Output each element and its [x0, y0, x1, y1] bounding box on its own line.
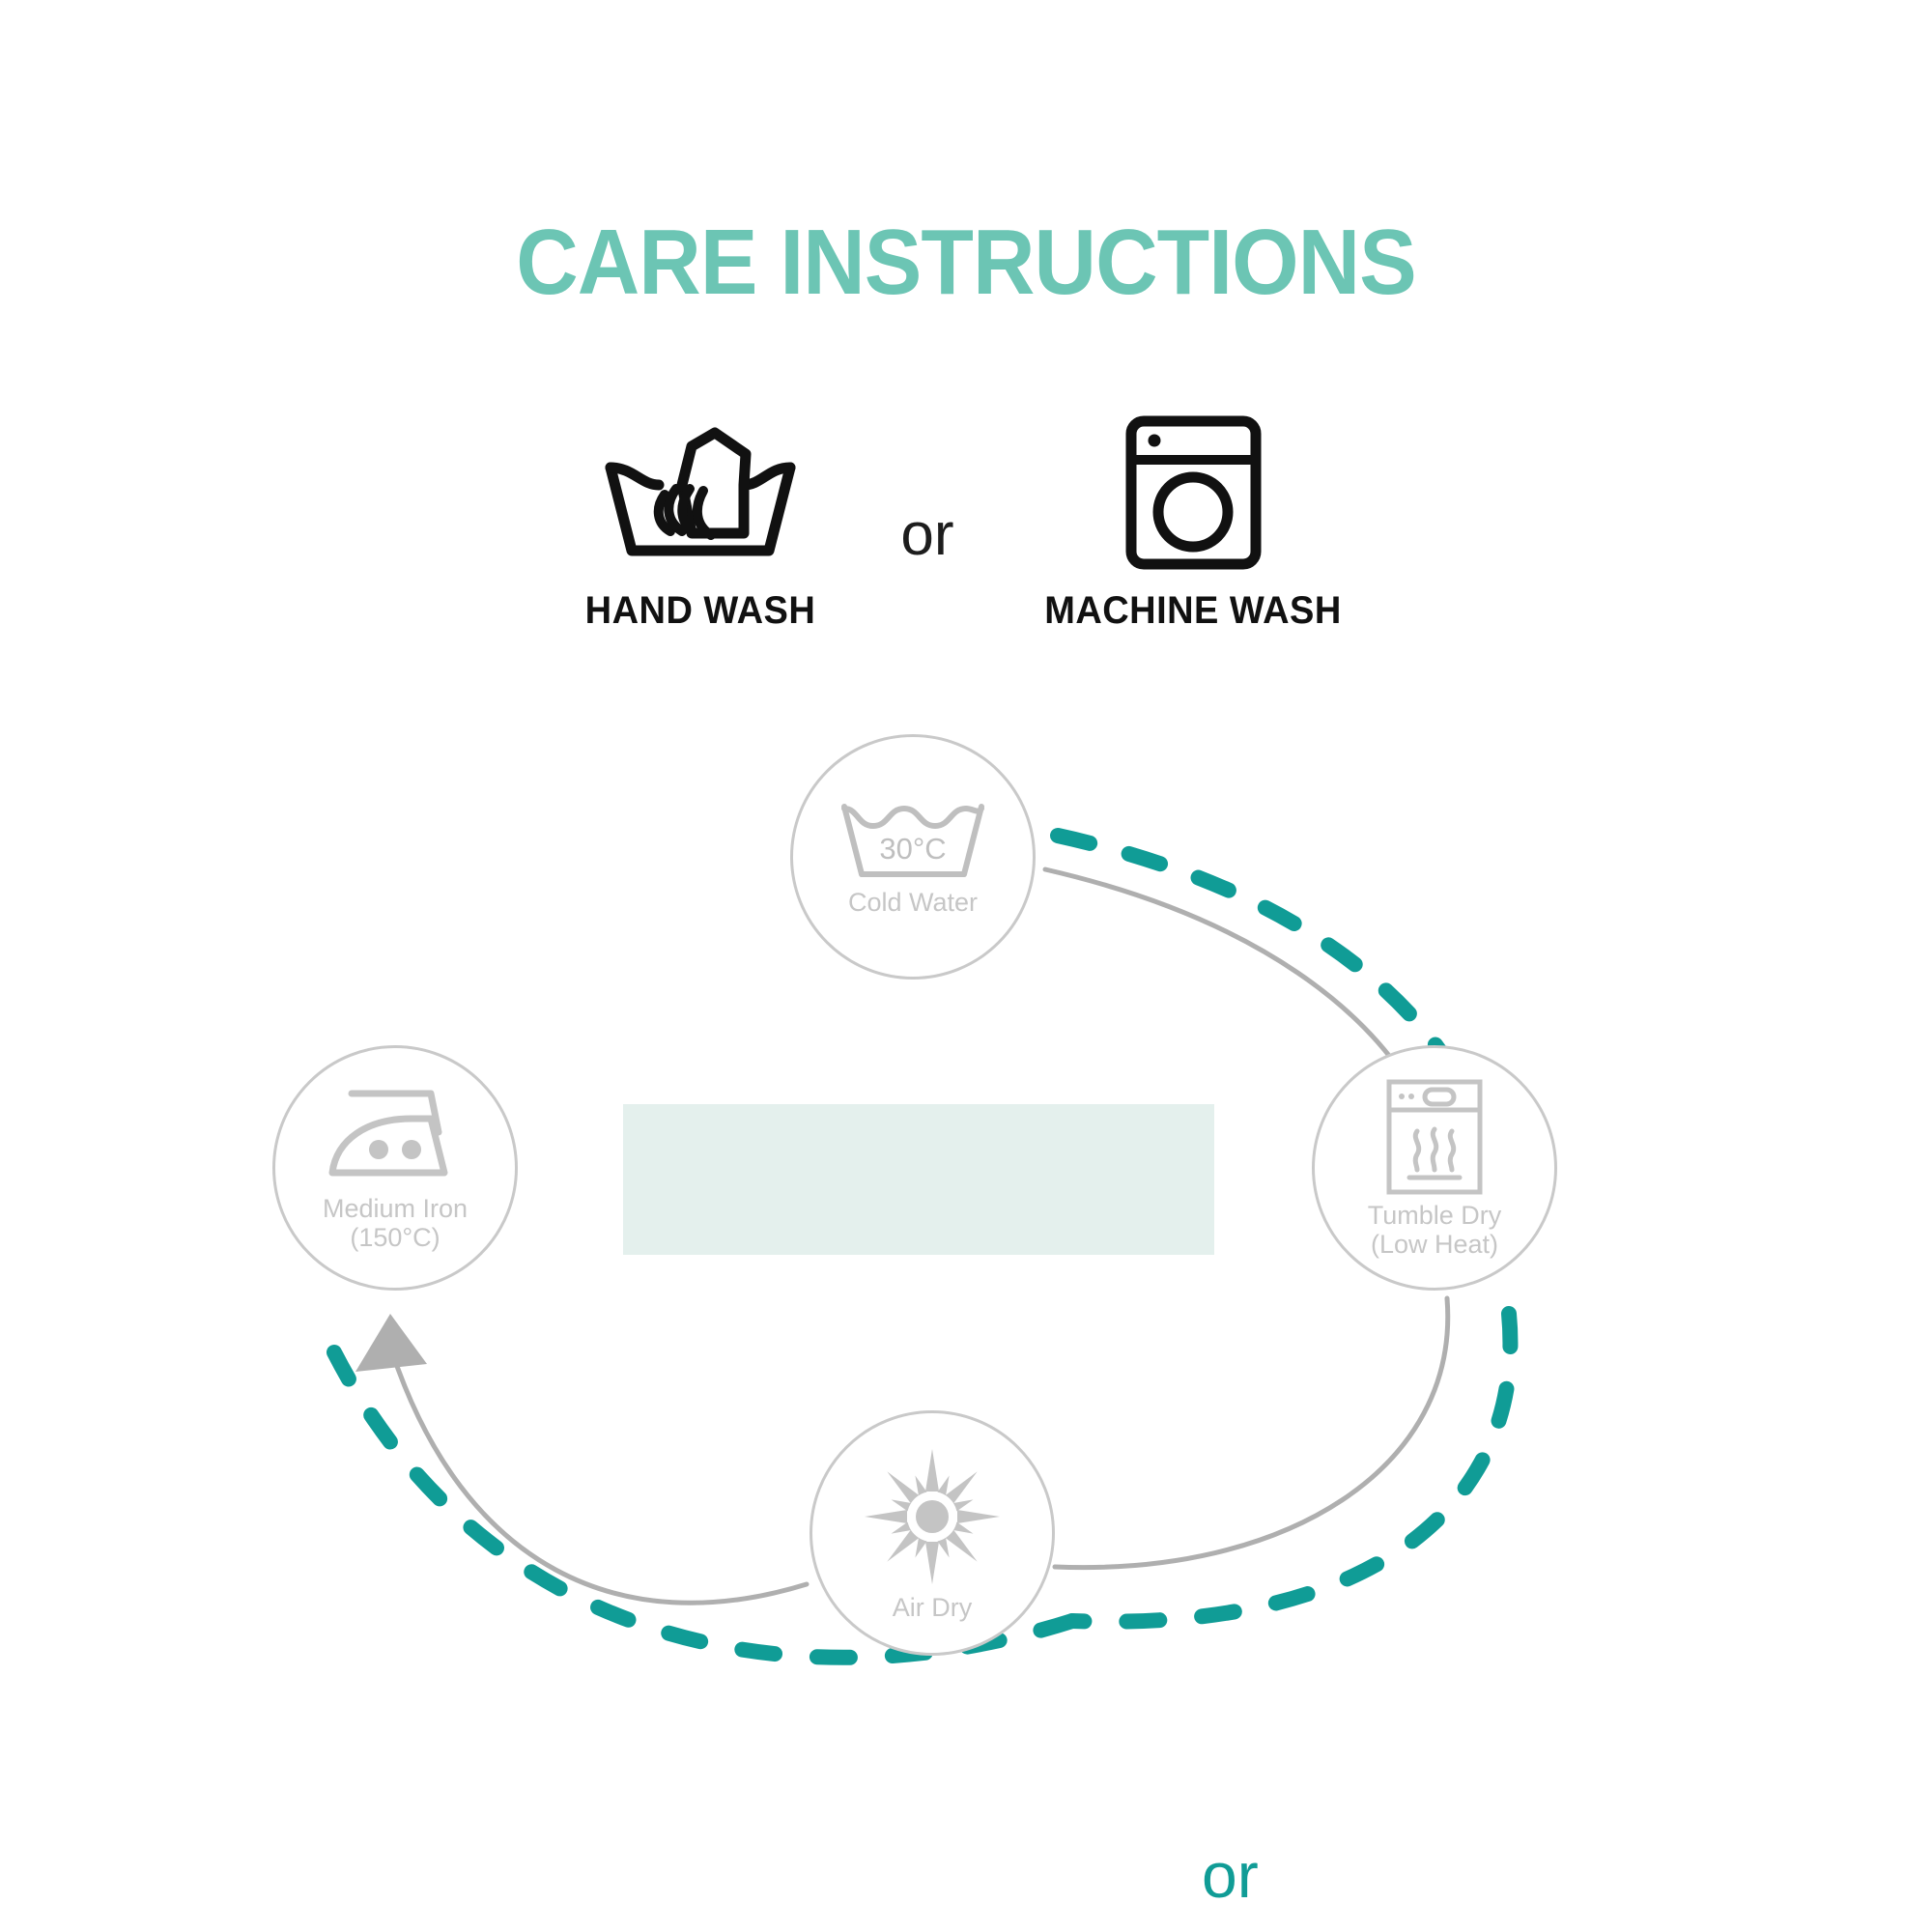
wash-methods-row: HAND WASH or MACHINE WASH — [541, 415, 1391, 657]
cycle-node-tumble-dry-label: Tumble Dry (Low Heat) — [1368, 1201, 1502, 1259]
wash-option-machine-wash-label: MACHINE WASH — [1005, 589, 1381, 633]
cycle-node-air-dry[interactable]: Air Dry — [810, 1410, 1055, 1656]
wash-tub-icon: 30°C — [837, 797, 989, 884]
hand-wash-icon — [541, 415, 860, 570]
center-content-panel — [623, 1104, 1214, 1255]
tumble-dryer-icon — [1384, 1077, 1485, 1197]
machine-wash-icon — [995, 415, 1391, 570]
wash-option-machine-wash[interactable]: MACHINE WASH — [995, 415, 1391, 633]
connector-air-dry-to-medium-iron-line — [392, 1352, 807, 1603]
infographic-canvas: CARE INSTRUCTIONS — [0, 0, 1932, 1932]
wash-option-hand-wash[interactable]: HAND WASH — [541, 415, 860, 633]
wash-option-hand-wash-label: HAND WASH — [549, 589, 852, 633]
cycle-node-air-dry-label: Air Dry — [893, 1593, 973, 1622]
care-cycle-separator: or — [1202, 1843, 1259, 1907]
cycle-node-cold-water[interactable]: 30°C Cold Water — [790, 734, 1036, 980]
iron-icon — [323, 1084, 468, 1190]
cycle-node-cold-water-label: Cold Water — [848, 888, 978, 917]
wash-methods-separator: or — [860, 500, 995, 569]
page-title: CARE INSTRUCTIONS — [68, 214, 1864, 312]
cycle-node-tumble-dry[interactable]: Tumble Dry (Low Heat) — [1312, 1045, 1557, 1291]
cycle-node-medium-iron-label: Medium Iron (150°C) — [323, 1194, 468, 1252]
connector-tumble-dry-to-air-dry-line — [1055, 1298, 1448, 1568]
cycle-node-medium-iron[interactable]: Medium Iron (150°C) — [272, 1045, 518, 1291]
connector-air-dry-to-medium-iron-arrowhead — [355, 1314, 427, 1372]
sun-icon — [860, 1444, 1005, 1589]
wash-tub-temperature-value: 30°C — [879, 832, 946, 866]
